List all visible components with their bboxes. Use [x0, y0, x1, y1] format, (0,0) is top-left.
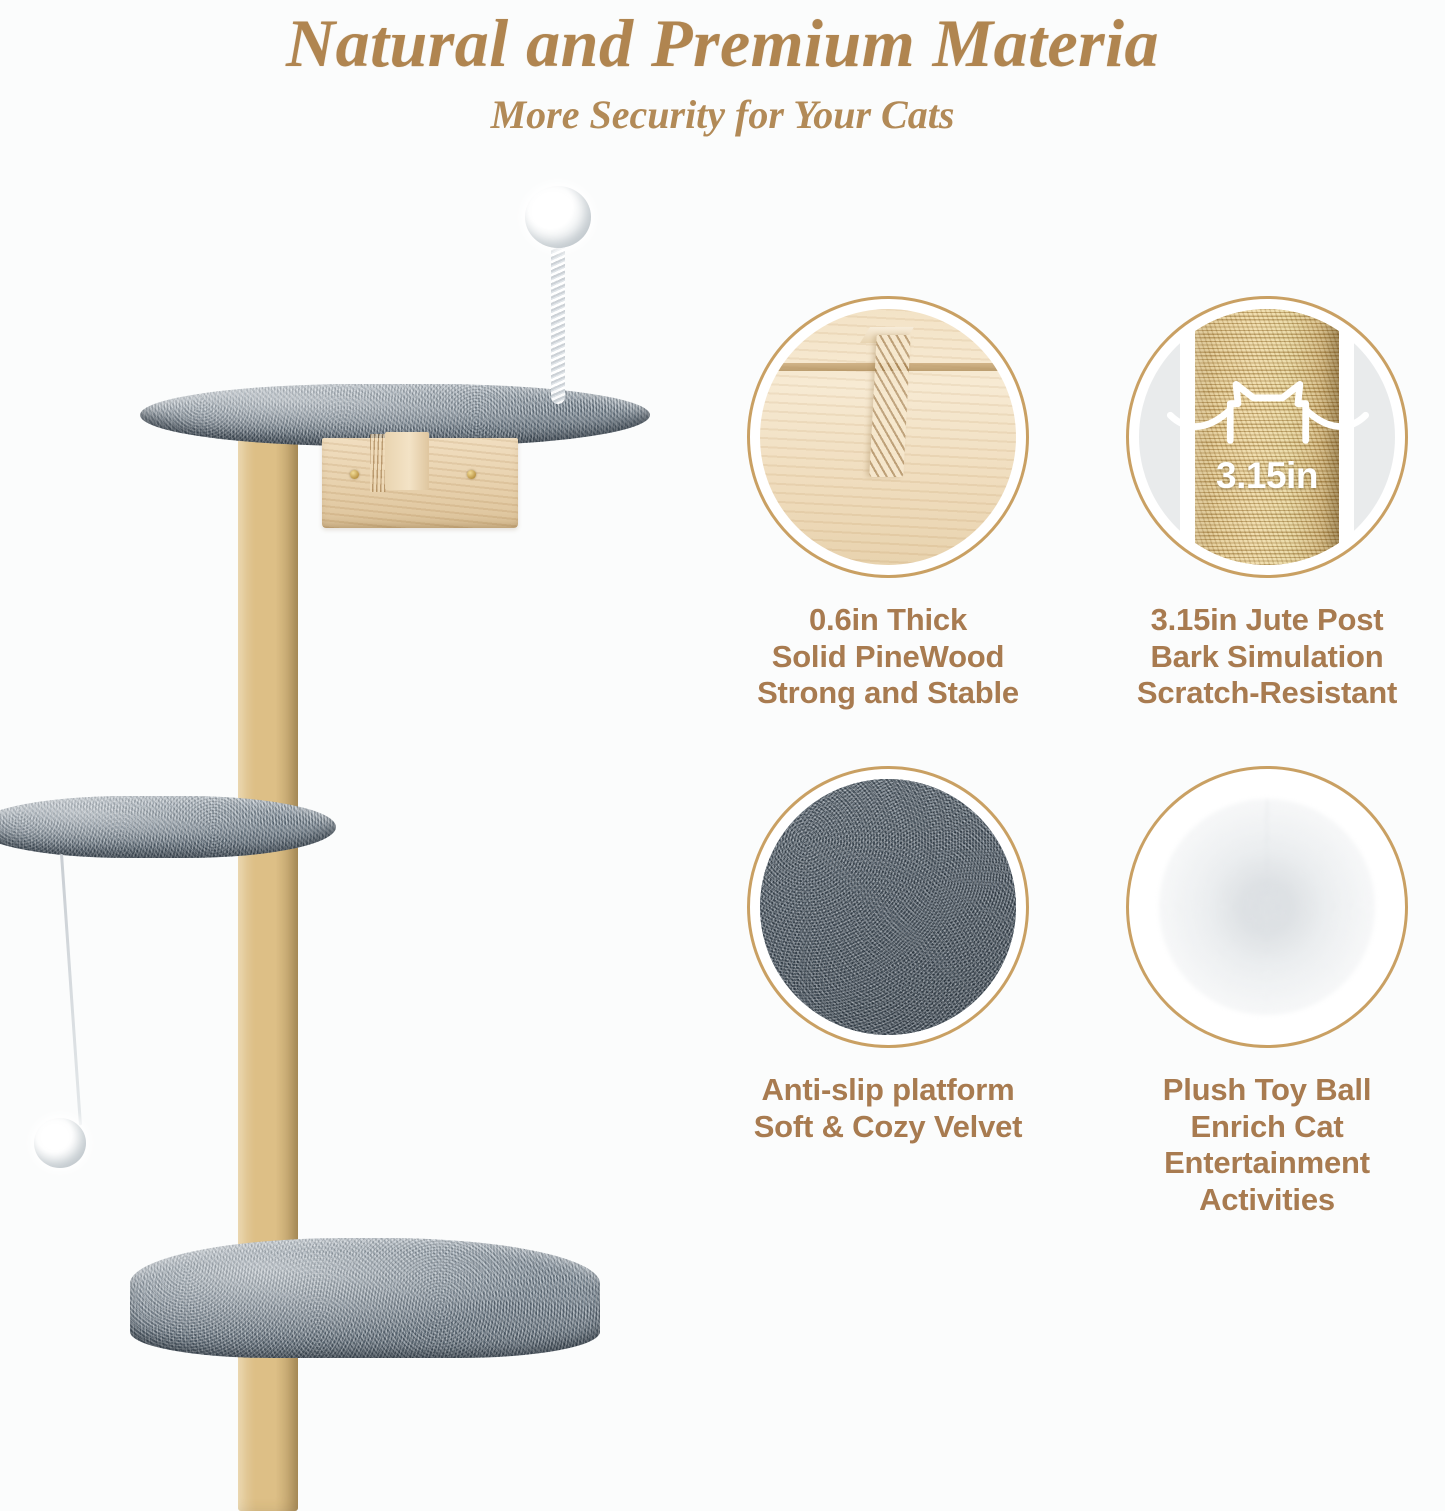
jute-post-photo: 3.15in: [1139, 309, 1395, 565]
hanging-pom-pom-toy: [34, 1118, 86, 1168]
feature-grid: 0.6in Thick Solid PineWood Strong and St…: [712, 296, 1445, 1306]
product-photo: [0, 176, 700, 1334]
pine-wood-edge-photo: [760, 309, 1016, 565]
wood-grain-detail: [370, 434, 386, 492]
feature-jute-post: 3.15in 3.15in Jute Post Bark Simulation …: [1117, 296, 1417, 712]
toy-cord: [60, 854, 82, 1126]
white-plush-pom-pom-photo: [1139, 779, 1395, 1035]
spring-pom-pom-toy: [525, 186, 591, 248]
feature-caption: Anti-slip platform Soft & Cozy Velvet: [738, 1072, 1038, 1145]
gray-velvet-texture-photo: [760, 779, 1016, 1035]
pom-pom-ball: [1159, 799, 1374, 1014]
page-title: Natural and Premium Materia: [0, 8, 1445, 79]
screw-icon: [467, 470, 476, 479]
feature-circle-frame: 3.15in: [1126, 296, 1408, 578]
spring-coil: [551, 232, 565, 404]
feature-caption: 3.15in Jute Post Bark Simulation Scratch…: [1117, 602, 1417, 712]
feature-caption: Plush Toy Ball Enrich Cat Entertainment …: [1117, 1072, 1417, 1218]
feature-circle-frame: [747, 766, 1029, 1048]
jute-diameter-label: 3.15in: [1139, 455, 1395, 497]
feature-circle-frame: [1126, 766, 1408, 1048]
wood-tab: [385, 432, 429, 490]
wood-thickness-edge: [869, 335, 910, 477]
feature-caption: 0.6in Thick Solid PineWood Strong and St…: [738, 602, 1038, 712]
plush-base-platform: [130, 1238, 600, 1358]
cat-silhouette-icon: [1139, 365, 1395, 452]
header-block: Natural and Premium Materia More Securit…: [0, 0, 1445, 135]
velvet-surface: [760, 779, 1016, 1035]
page-subtitle: More Security for Your Cats: [0, 95, 1445, 135]
screw-icon: [350, 470, 359, 479]
feature-circle-frame: [747, 296, 1029, 578]
feature-plush-toy-ball: Plush Toy Ball Enrich Cat Entertainment …: [1117, 766, 1417, 1218]
feature-pine-wood: 0.6in Thick Solid PineWood Strong and St…: [738, 296, 1038, 712]
middle-plush-platform: [0, 796, 336, 858]
feature-velvet-platform: Anti-slip platform Soft & Cozy Velvet: [738, 766, 1038, 1145]
